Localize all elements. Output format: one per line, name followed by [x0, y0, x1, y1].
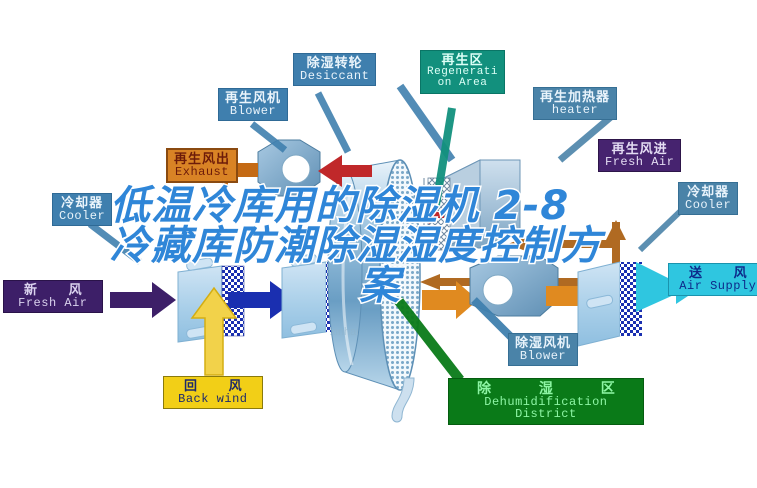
label-dehum-blower-en: Blower [515, 350, 571, 363]
label-regen-air-out: 再生风出 Exhaust [166, 148, 238, 183]
label-desiccant-rotor-cn: 除湿转轮 [300, 56, 369, 70]
label-air-supply-en: Air Supply [675, 280, 757, 293]
label-regen-air-in: 再生风进 Fresh Air [598, 139, 681, 172]
label-cooler-left: 冷却器 Cooler [52, 193, 112, 226]
label-regen-heater-en: heater [540, 104, 610, 117]
label-cooler-left-en: Cooler [59, 210, 105, 223]
label-regen-area-cn: 再生区 [427, 53, 498, 67]
label-dehum-district: 除 湿 区 Dehumidification District [448, 378, 644, 425]
label-back-wind-cn: 回 风 [170, 379, 256, 393]
label-air-supply: 送 风 Air Supply [668, 263, 757, 296]
label-regen-air-out-en: Exhaust [174, 166, 230, 179]
desiccant-rotor: xinhai [328, 160, 420, 390]
label-regen-air-in-cn: 再生风进 [605, 142, 674, 156]
diagram-canvas: xinhai [0, 0, 757, 488]
label-dehum-district-cn: 除 湿 区 [455, 381, 637, 396]
label-back-wind-en: Back wind [170, 393, 256, 406]
label-regen-heater-cn: 再生加热器 [540, 90, 610, 104]
supply-duct [578, 262, 642, 346]
label-back-wind: 回 风 Back wind [163, 376, 263, 409]
label-dehum-blower: 除湿风机 Blower [508, 333, 578, 366]
label-desiccant-rotor-en: Desiccant [300, 70, 369, 83]
label-cooler-right: 冷却器 Cooler [678, 182, 738, 215]
label-regen-air-in-en: Fresh Air [605, 156, 674, 169]
label-dehum-blower-cn: 除湿风机 [515, 336, 571, 350]
regen-blower-housing [258, 140, 320, 196]
label-regen-area: 再生区 Regenerati on Area [420, 50, 505, 94]
label-air-supply-cn: 送 风 [675, 266, 757, 280]
label-regen-blower-cn: 再生风机 [225, 91, 281, 105]
label-fresh-air: 新 风 Fresh Air [3, 280, 103, 313]
label-cooler-right-cn: 冷却器 [685, 185, 731, 199]
label-regen-heater: 再生加热器 heater [533, 87, 617, 120]
label-desiccant-rotor: 除湿转轮 Desiccant [293, 53, 376, 86]
label-fresh-air-en: Fresh Air [10, 297, 96, 310]
label-dehum-district-en2: District [455, 408, 637, 421]
label-cooler-right-en: Cooler [685, 199, 731, 212]
label-regen-air-out-cn: 再生风出 [174, 152, 230, 166]
label-regen-blower-en: Blower [225, 105, 281, 118]
label-regen-area-en2: on Area [427, 78, 498, 90]
label-cooler-left-cn: 冷却器 [59, 196, 105, 210]
fresh-air-arrow [110, 282, 176, 318]
svg-text:xinhai: xinhai [330, 326, 359, 338]
label-fresh-air-cn: 新 风 [10, 283, 96, 297]
label-regen-blower: 再生风机 Blower [218, 88, 288, 121]
